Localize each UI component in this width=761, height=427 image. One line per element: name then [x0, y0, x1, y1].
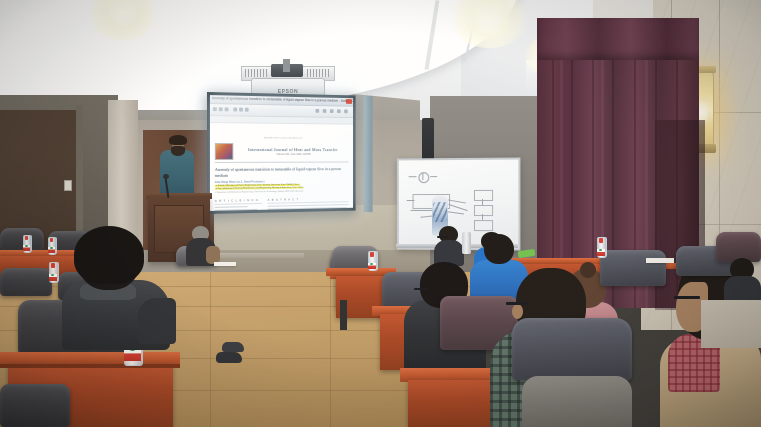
- downlight-1: [113, 2, 131, 10]
- whiteboard-line: [448, 199, 466, 203]
- microphone-head: [163, 174, 169, 179]
- whiteboard-box: [474, 190, 493, 201]
- curtain-valance: [537, 18, 699, 60]
- wall-right-lower: [701, 300, 761, 348]
- wall-speaker: [422, 118, 434, 163]
- attendee-near-whiteboard-1: [434, 226, 464, 262]
- water-bottle-back-left-1[interactable]: [23, 236, 30, 253]
- attendee-head: [484, 234, 514, 264]
- water-bottle-right-1[interactable]: [597, 238, 605, 258]
- glasses-icon: [414, 288, 428, 290]
- whiteboard-line: [448, 204, 467, 211]
- attendee-front-left: [62, 228, 172, 348]
- chair-far-right-1[interactable]: [600, 250, 666, 286]
- chair-front-center[interactable]: [512, 318, 632, 380]
- conference-room-screenshot: EPSON: [0, 0, 761, 427]
- projector-vent-left: [245, 69, 267, 77]
- presenter-beard: [171, 146, 185, 156]
- glasses-icon: [437, 236, 448, 238]
- whiteboard-connector: [482, 199, 483, 205]
- attendee-shoulder: [138, 298, 176, 344]
- chair-front-center-cushion: [522, 376, 632, 427]
- projection-screen-frame: Anomaly of spontaneous transition to met…: [207, 92, 356, 214]
- whiteboard-mark: [430, 176, 437, 177]
- glasses-icon: [506, 302, 528, 305]
- whiteboard-connector: [482, 214, 483, 220]
- light-switch[interactable]: [64, 180, 72, 191]
- whiteboard-circle-symbol: [418, 172, 429, 183]
- paper-on-desk-right: [646, 258, 674, 263]
- shoe: [216, 352, 242, 363]
- whiteboard-line: [407, 200, 415, 201]
- attendee-hair: [74, 226, 144, 284]
- desk-left-front-edge: [0, 364, 180, 368]
- desk-leg: [340, 300, 347, 330]
- whiteboard-box: [474, 205, 493, 216]
- projector-arm: [283, 59, 290, 72]
- shoe: [222, 342, 244, 352]
- screen-side-edge: [363, 96, 372, 213]
- chair-left-r2-a[interactable]: [0, 268, 52, 296]
- attendee-ear: [512, 304, 523, 319]
- water-bottle-center-1[interactable]: [368, 252, 376, 271]
- projection-screen: Anomaly of spontaneous transition to met…: [210, 95, 353, 211]
- water-bottle-left-mid[interactable]: [49, 263, 57, 283]
- projector-vent-right: [307, 69, 329, 77]
- presenter-hair: [169, 135, 187, 145]
- screen-glare: [210, 95, 353, 211]
- whiteboard-mark: [409, 176, 417, 177]
- chair-left-bottom[interactable]: [0, 384, 70, 427]
- whiteboard-box: [474, 220, 493, 231]
- paper-on-desk-back: [214, 262, 236, 266]
- whiteboard-mark: [422, 173, 423, 180]
- vase-pattern: [433, 202, 447, 222]
- glasses-icon: [674, 296, 700, 299]
- downlight-2: [480, 6, 496, 14]
- front-table: [218, 253, 304, 258]
- chair-left-r1-a[interactable]: [0, 228, 44, 250]
- water-bottle-back-left-2[interactable]: [48, 238, 55, 255]
